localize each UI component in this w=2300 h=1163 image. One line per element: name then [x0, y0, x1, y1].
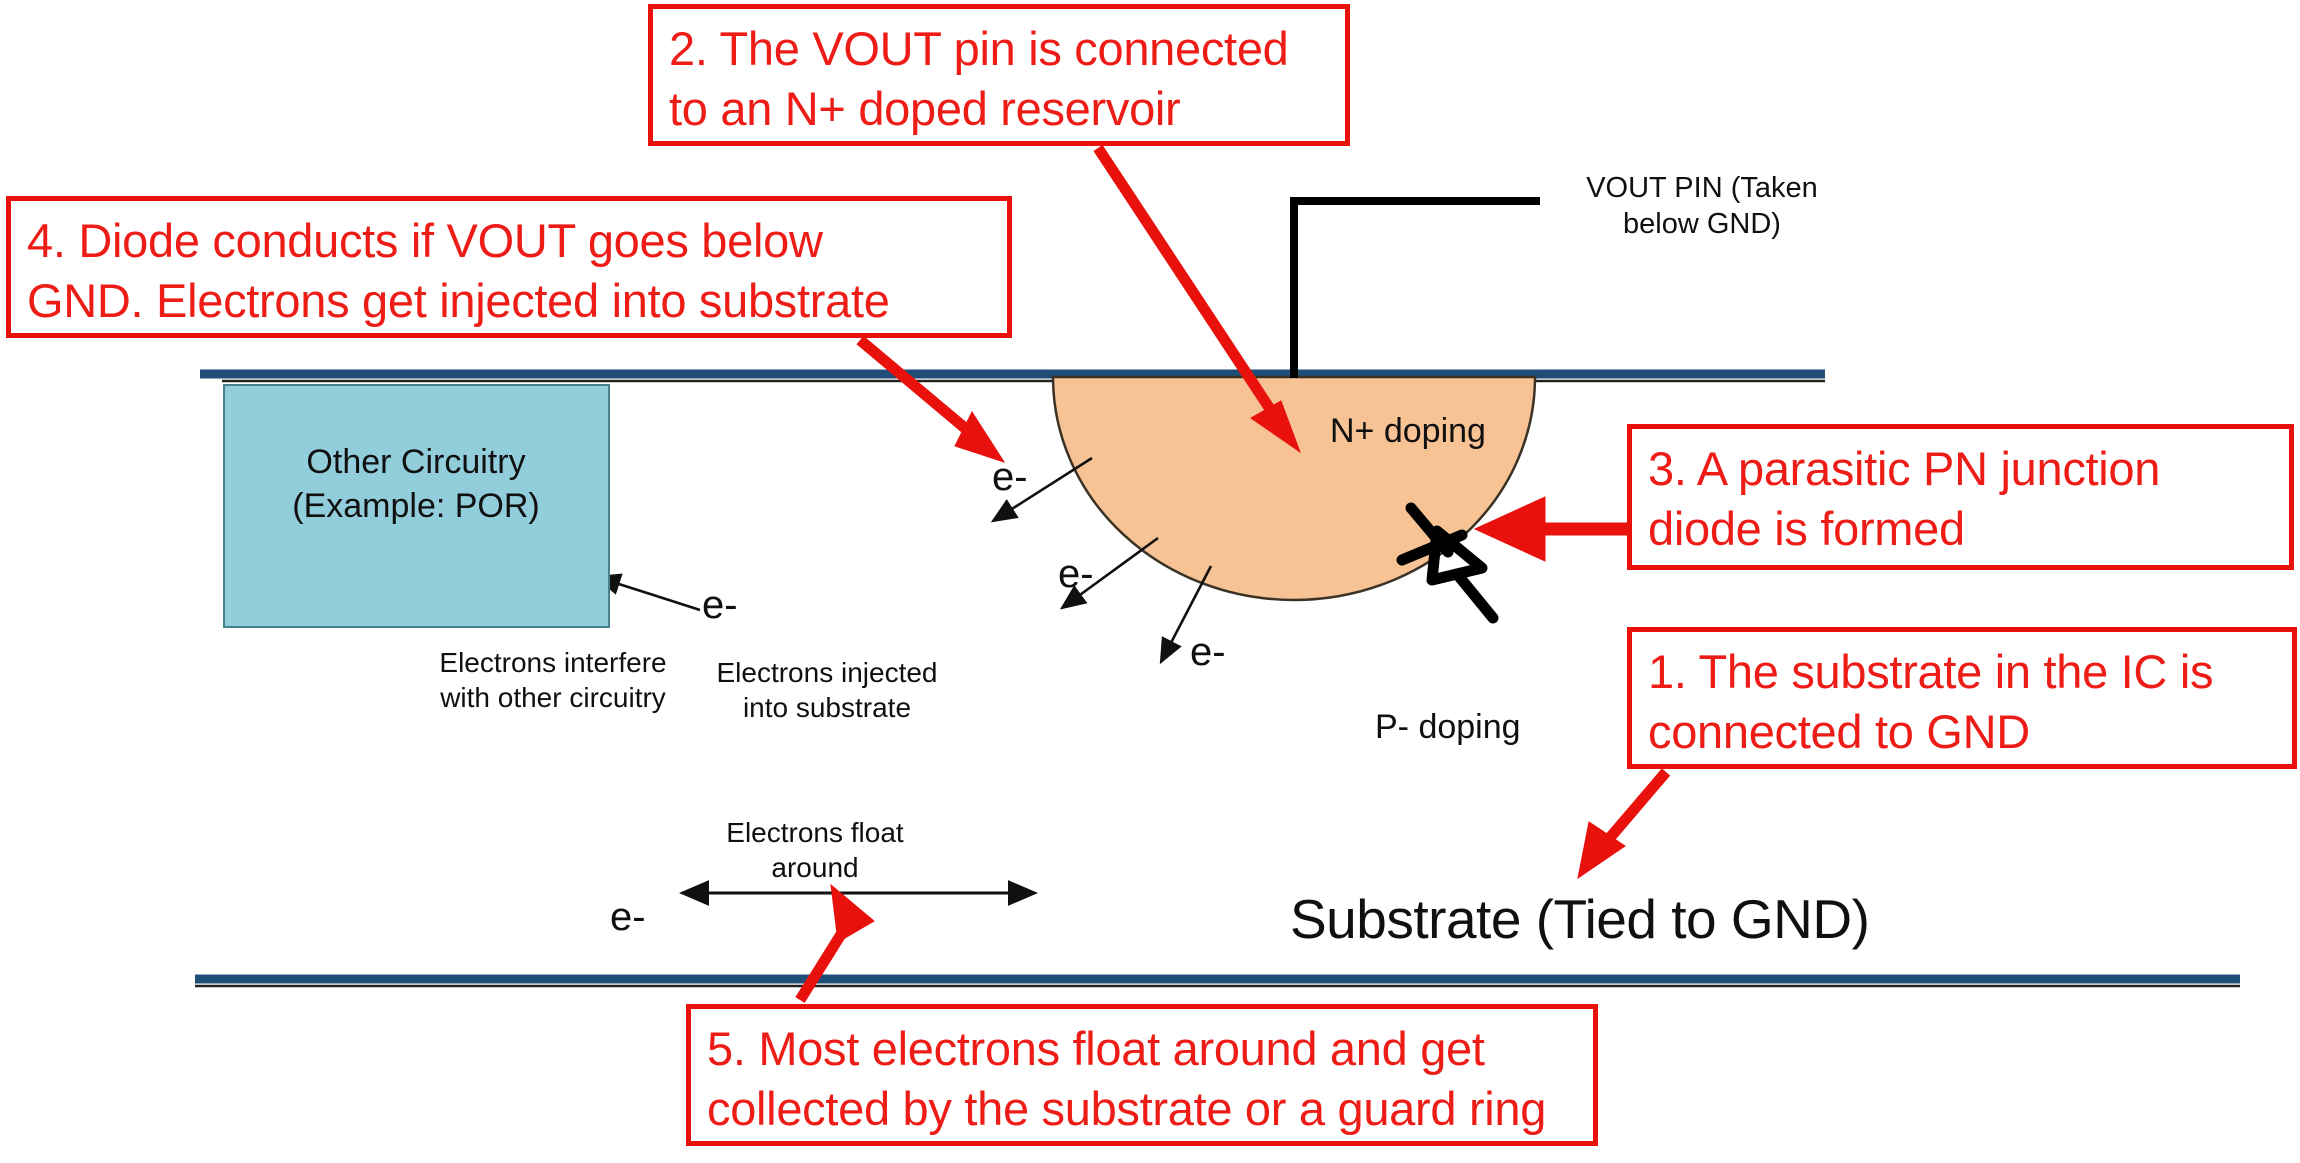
callout-box-4: 4. Diode conducts if VOUT goes below GND… [6, 196, 1012, 338]
callout-1-pointer [1578, 772, 1666, 878]
diagram-canvas: Other Circuitry (Example: POR) VOUT PIN … [0, 0, 2300, 1163]
n-plus-doping-label: N+ doping [1330, 410, 1486, 453]
callout-box-2: 2. The VOUT pin is connected to an N+ do… [648, 4, 1350, 146]
electrons-injected-label: Electrons injected into substrate [682, 655, 972, 725]
electron-marker-3: e- [1190, 630, 1226, 675]
electrons-interfere-label: Electrons interfere with other circuitry [420, 645, 686, 715]
electron-arrow-other-circuitry [597, 577, 700, 610]
electrons-float-label: Electrons float around [700, 815, 930, 885]
substrate-top-boundary [200, 374, 1825, 381]
electron-marker-float: e- [610, 895, 646, 940]
substrate-label: Substrate (Tied to GND) [1290, 885, 1869, 954]
other-circuitry-label: Other Circuitry (Example: POR) [224, 440, 608, 528]
callout-3-pointer [1475, 497, 1632, 561]
vout-pin-label: VOUT PIN (Taken below GND) [1552, 170, 1852, 243]
callout-box-1: 1. The substrate in the IC is connected … [1627, 627, 2297, 769]
callout-4-pointer [860, 340, 1004, 462]
vout-pin-wire [1294, 201, 1520, 378]
callout-box-3: 3. A parasitic PN junction diode is form… [1627, 424, 2294, 570]
electron-marker-other-circuitry: e- [702, 583, 738, 628]
callout-box-5: 5. Most electrons float around and get c… [686, 1004, 1598, 1146]
electron-marker-1: e- [992, 455, 1028, 500]
p-minus-doping-label: P- doping [1375, 706, 1521, 749]
electron-marker-2: e- [1058, 552, 1094, 597]
substrate-bottom-boundary [195, 979, 2240, 986]
